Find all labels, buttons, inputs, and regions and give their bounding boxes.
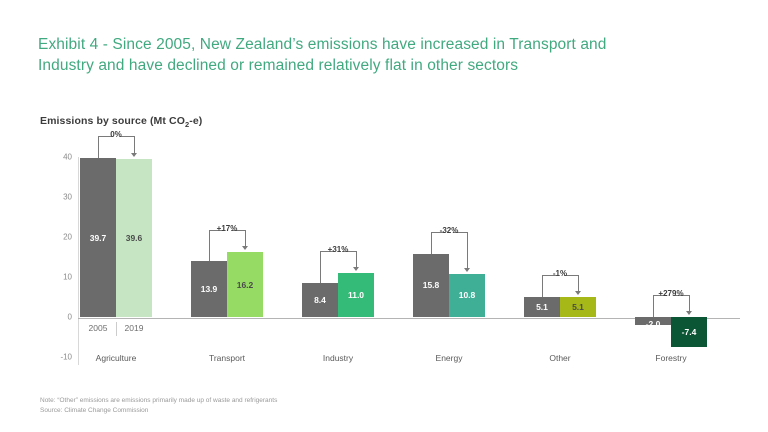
year-legend-labels: 20052019: [40, 145, 740, 365]
chart-subtitle-suffix: -e): [189, 115, 202, 127]
category-label-agriculture: Agriculture: [58, 353, 174, 363]
title-line-2: Industry and have declined or remained r…: [38, 55, 738, 76]
delta-label-agriculture: 0%: [78, 130, 154, 139]
footnotes: Note: “Other” emissions are emissions pr…: [40, 396, 277, 415]
year-label-2005: 2005: [80, 323, 116, 333]
year-label-divider: [116, 322, 117, 336]
exhibit-title: Exhibit 4 - Since 2005, New Zealand’s em…: [38, 34, 738, 76]
chart-plot-area: 403020100-10 39.739.60%13.916.2+17%8.411…: [40, 145, 740, 365]
footnote-note: Note: “Other” emissions are emissions pr…: [40, 396, 277, 406]
title-line-1: Exhibit 4 - Since 2005, New Zealand’s em…: [38, 34, 738, 55]
category-label-energy: Energy: [391, 353, 507, 363]
category-label-forestry: Forestry: [613, 353, 729, 363]
chart-subtitle-prefix: Emissions by source (Mt CO: [40, 115, 185, 127]
category-label-transport: Transport: [169, 353, 285, 363]
chart-subtitle: Emissions by source (Mt CO2-e): [40, 115, 202, 129]
footnote-source: Source: Climate Change Commission: [40, 406, 277, 416]
category-label-other: Other: [502, 353, 618, 363]
year-label-2019: 2019: [116, 323, 152, 333]
x-axis-category-labels: AgricultureTransportIndustryEnergyOtherF…: [40, 353, 740, 369]
category-label-industry: Industry: [280, 353, 396, 363]
